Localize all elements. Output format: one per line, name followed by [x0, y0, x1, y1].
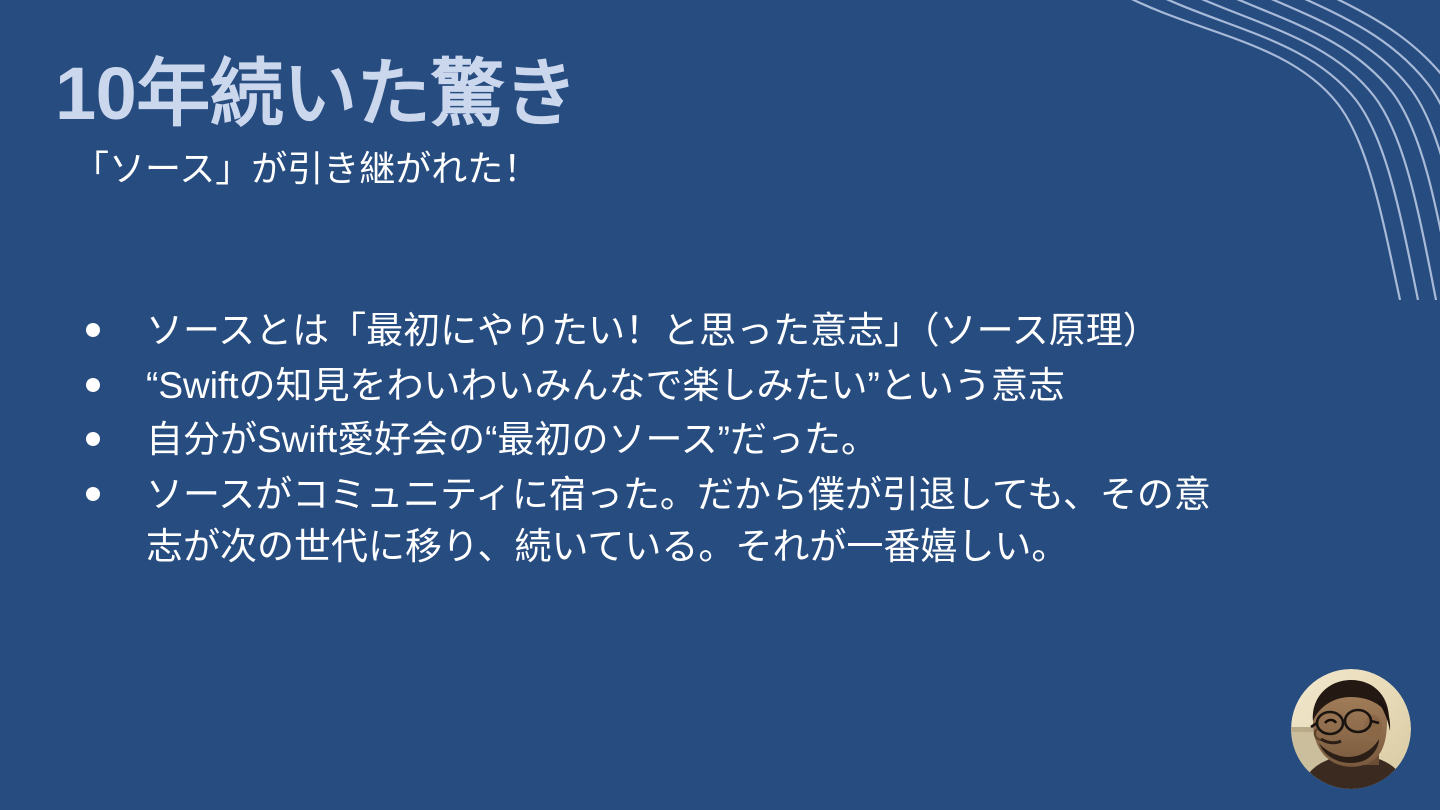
- list-item: ソースとは「最初にやりたい！と思った意志」（ソース原理）: [78, 305, 1223, 358]
- presentation-slide: 10年続いた驚き 「ソース」が引き継がれた！ ソースとは「最初にやりたい！と思っ…: [0, 0, 1440, 810]
- list-item-label: ソースとは「最初にやりたい！と思った意志」（ソース原理）: [146, 310, 1160, 351]
- list-item-label: ソースがコミュニティに宿った。だから僕が引退しても、その意志が次の世代に移り、続…: [146, 474, 1211, 568]
- list-item-label: 自分がSwift愛好会の“最初のソース”だった。: [146, 419, 878, 460]
- avatar: [1291, 669, 1411, 789]
- bullet-dot-icon: [86, 487, 100, 501]
- list-item: 自分がSwift愛好会の“最初のソース”だった。: [78, 414, 1223, 467]
- list-item: ソースがコミュニティに宿った。だから僕が引退しても、その意志が次の世代に移り、続…: [78, 469, 1223, 574]
- bullet-dot-icon: [86, 323, 100, 337]
- title-block: 10年続いた驚き 「ソース」が引き継がれた！: [55, 56, 1205, 190]
- page-title: 10年続いた驚き: [55, 56, 1205, 133]
- list-item-label: “Swiftの知見をわいわいみんなで楽しみたい”という意志: [146, 365, 1065, 406]
- bullet-dot-icon: [86, 432, 100, 446]
- list-item: “Swiftの知見をわいわいみんなで楽しみたい”という意志: [78, 360, 1223, 413]
- page-subtitle: 「ソース」が引き継がれた！: [73, 147, 1205, 190]
- bullet-list: ソースとは「最初にやりたい！と思った意志」（ソース原理） “Swiftの知見をわ…: [78, 305, 1223, 576]
- bullet-dot-icon: [86, 378, 100, 392]
